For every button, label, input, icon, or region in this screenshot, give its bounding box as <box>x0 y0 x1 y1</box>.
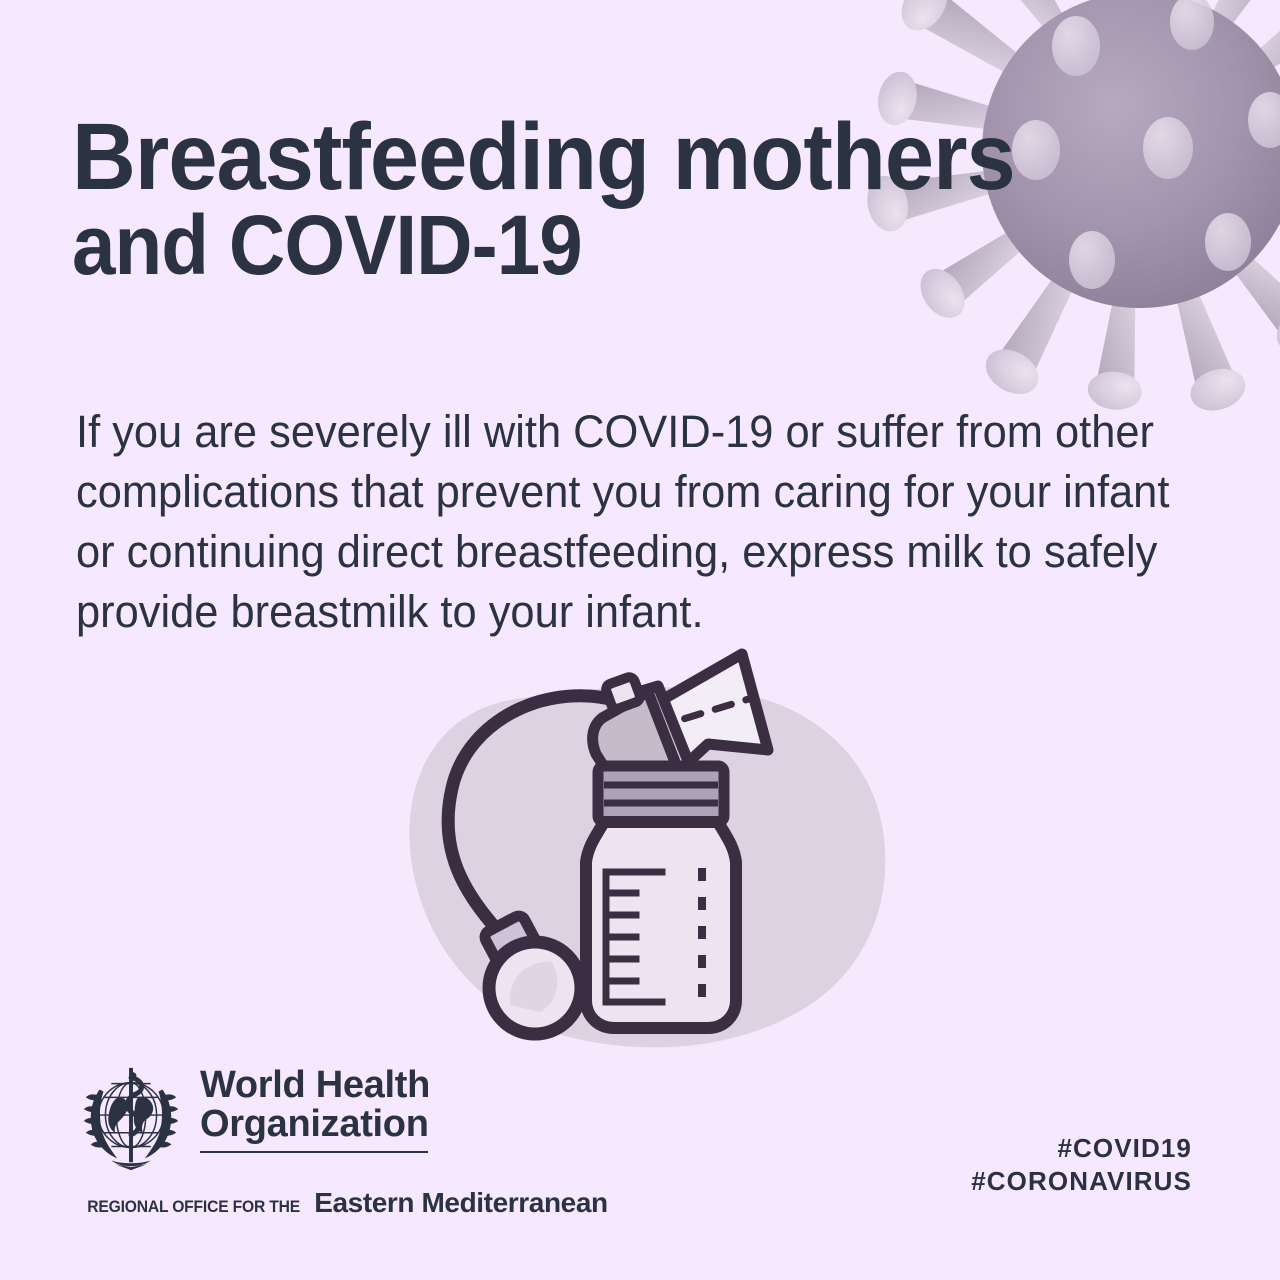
who-logo: World Health Organization REGIONAL OFFIC… <box>72 1058 432 1219</box>
title-line-1: Breastfeeding mothers <box>72 112 1011 203</box>
who-emblem-icon <box>72 1060 190 1178</box>
who-region-name: Eastern Mediterranean <box>314 1187 608 1219</box>
who-divider-rule <box>200 1151 428 1153</box>
who-name-line-1: World Health <box>200 1066 430 1105</box>
hashtag-covid19: #COVID19 <box>971 1132 1192 1165</box>
hashtag-block: #COVID19 #CORONAVIRUS <box>971 1132 1192 1197</box>
hashtag-coronavirus: #CORONAVIRUS <box>971 1165 1192 1198</box>
body-text: If you are severely ill with COVID-19 or… <box>76 402 1176 641</box>
breast-pump-illustration <box>390 640 910 1060</box>
who-region-row: REGIONAL OFFICE FOR THE Eastern Mediterr… <box>78 1187 432 1219</box>
who-name-line-2: Organization <box>200 1105 430 1144</box>
bottle <box>586 822 736 1028</box>
title-line-2: and COVID-19 <box>72 205 1011 286</box>
page-title: Breastfeeding mothers and COVID-19 <box>72 112 1082 286</box>
who-region-prefix: REGIONAL OFFICE FOR THE <box>87 1197 300 1217</box>
who-wordmark: World Health Organization <box>200 1058 430 1153</box>
poster-canvas: Breastfeeding mothers and COVID-19 If yo… <box>0 0 1280 1280</box>
bottle-collar <box>598 766 724 822</box>
who-logo-main: World Health Organization <box>72 1058 432 1178</box>
